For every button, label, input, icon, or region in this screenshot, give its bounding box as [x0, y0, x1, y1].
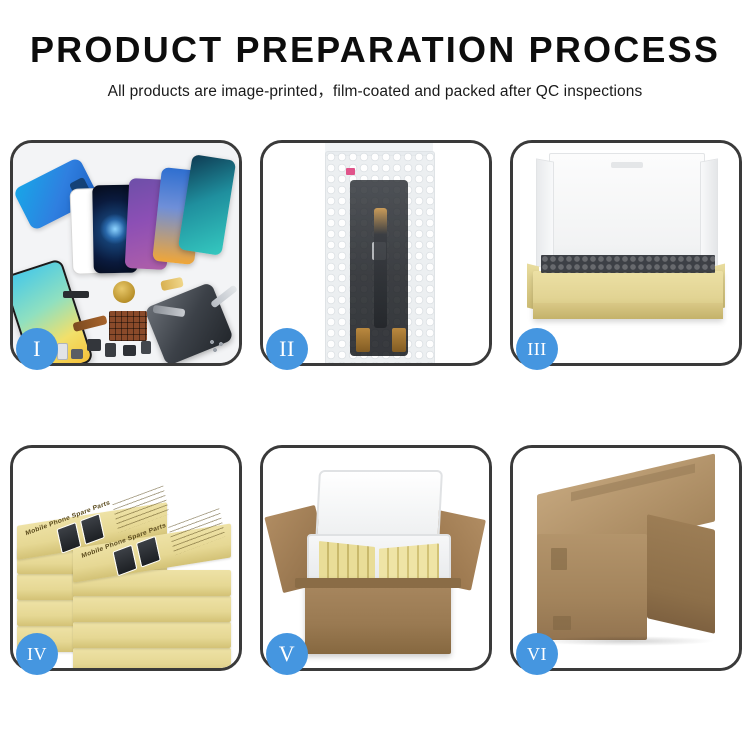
step-panel-6: VI	[510, 445, 742, 671]
component-3-icon	[123, 345, 136, 356]
component-5-icon	[57, 343, 68, 360]
component-4-icon	[141, 341, 151, 354]
step-panel-3: III	[510, 140, 742, 366]
carton-shadow	[537, 636, 715, 646]
connector-left-icon	[356, 328, 370, 352]
page-subtitle: All products are image-printed，film-coat…	[0, 79, 750, 101]
carton-body-icon	[305, 578, 451, 654]
logic-board-icon	[109, 311, 147, 341]
kraft-box-right-3	[73, 596, 231, 622]
step-panel-2: II	[260, 140, 492, 366]
bubble-wrap-icon	[325, 151, 435, 363]
step-badge-4: IV	[16, 633, 58, 675]
screen-flex-cable-icon	[374, 208, 387, 328]
step-badge-3: III	[516, 328, 558, 370]
carton-mark-2-icon	[553, 616, 571, 630]
carton-side-face-icon	[647, 514, 715, 634]
label-phone-thumb-4-icon	[136, 536, 161, 568]
page-title: PRODUCT PREPARATION PROCESS	[0, 30, 750, 70]
steps-grid: I II	[10, 140, 740, 671]
carton-mark-1-icon	[551, 548, 567, 570]
lid-notch-icon	[611, 162, 643, 168]
speaker-coil-icon	[113, 281, 135, 303]
step-panel-4: Mobile Phone Spare Parts Mobile Phone Sp…	[10, 445, 242, 671]
component-1-icon	[87, 339, 101, 351]
step-badge-6: VI	[516, 633, 558, 675]
screws-icon	[209, 339, 227, 353]
kraft-box-right-1	[73, 648, 231, 668]
step-panel-1: I	[10, 140, 242, 366]
product-preparation-infographic: PRODUCT PREPARATION PROCESS All products…	[0, 0, 750, 750]
label-phone-thumb-2-icon	[80, 513, 105, 545]
label-spec-lines-2-icon	[168, 508, 225, 555]
header: PRODUCT PREPARATION PROCESS All products…	[0, 0, 750, 101]
step-badge-2: II	[266, 328, 308, 370]
label-phone-thumb-3-icon	[112, 545, 137, 577]
connector-right-icon	[392, 328, 406, 352]
pink-label-icon	[346, 168, 355, 175]
step-badge-5: V	[266, 633, 308, 675]
kraft-box-right-2	[73, 622, 231, 648]
component-2-icon	[105, 343, 116, 357]
kraft-tray-with-bubble-wrap-icon	[533, 271, 723, 319]
step-badge-1: I	[16, 328, 58, 370]
component-6-icon	[71, 349, 83, 359]
battery-strip-icon	[63, 291, 89, 298]
gold-connector-icon	[160, 277, 184, 291]
step-panel-5: V	[260, 445, 492, 671]
